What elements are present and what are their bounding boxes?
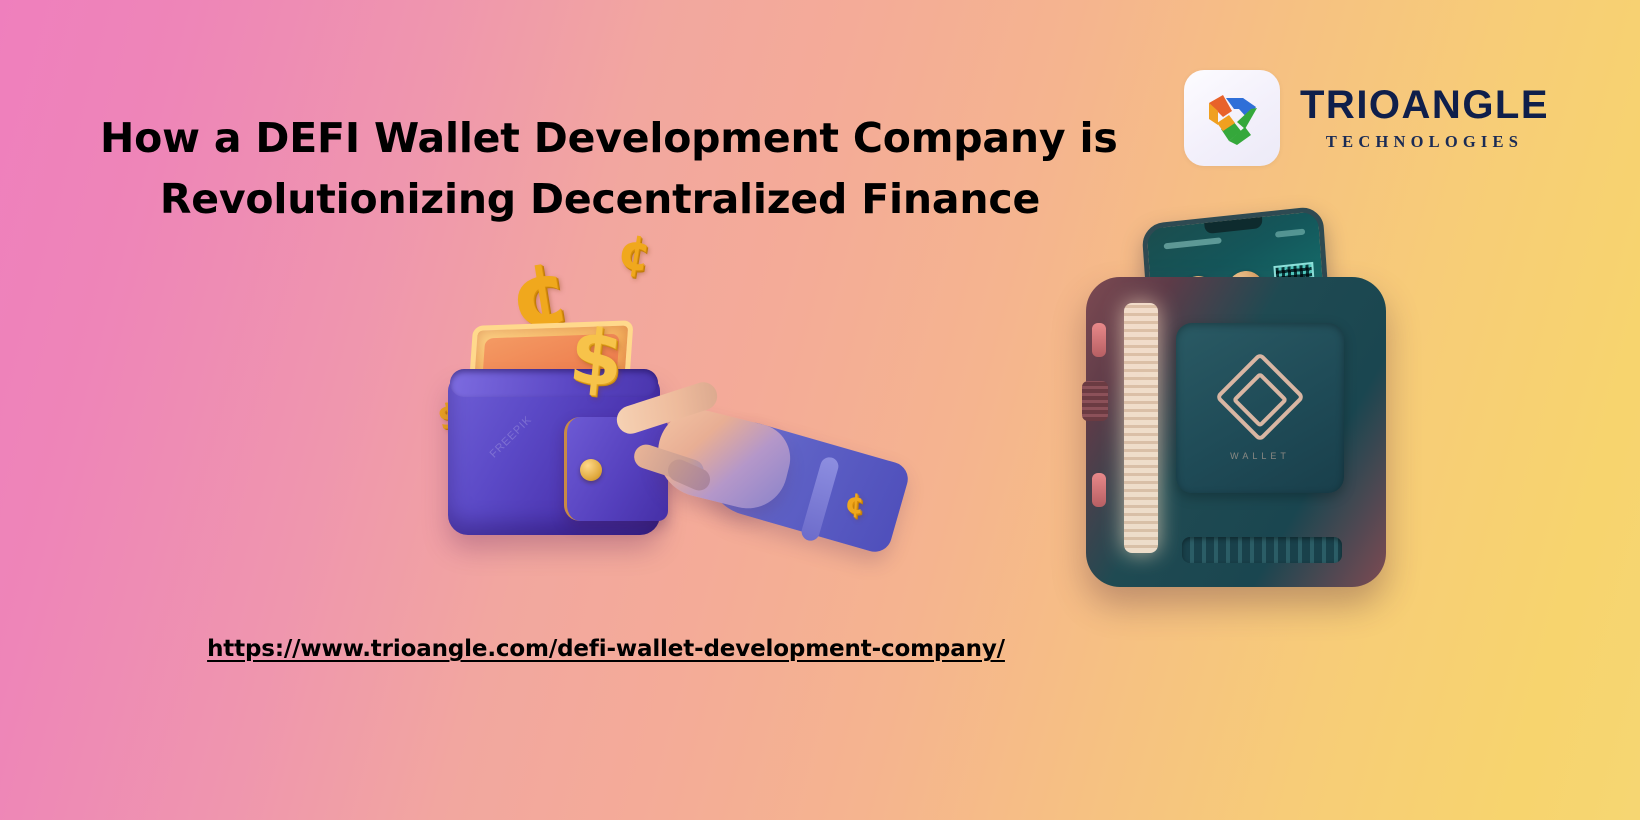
device-led-strip bbox=[1124, 303, 1158, 553]
website-url-link[interactable]: https://www.trioangle.com/defi-wallet-de… bbox=[0, 636, 1212, 662]
device-grill bbox=[1182, 537, 1342, 563]
device-side-button-top bbox=[1092, 323, 1106, 357]
logo-company-name: TRIOANGLE bbox=[1300, 85, 1549, 125]
cent-symbol-small-icon: ¢ bbox=[614, 227, 655, 280]
wallet-illustration: ¢ ¢ $ FREEPIK FREEPIK $ ¢ bbox=[400, 235, 900, 615]
promo-banner: How a DEFI Wallet Development Company is… bbox=[0, 0, 1640, 820]
brand-logo[interactable]: TRIOANGLE TECHNOLOGIES bbox=[1184, 70, 1549, 166]
device-side-button-bottom bbox=[1092, 473, 1106, 507]
phone-notch bbox=[1204, 217, 1262, 234]
device-front-panel: WALLET bbox=[1176, 323, 1344, 493]
device-chassis: WALLET bbox=[1086, 277, 1386, 587]
triangle-knot-icon bbox=[1201, 89, 1263, 147]
wallet-clasp-button bbox=[580, 459, 602, 481]
freepik-watermark: FREEPIK bbox=[488, 414, 535, 461]
phone-status-bar-right bbox=[1275, 229, 1305, 238]
pointing-hand-graphic: ¢ bbox=[615, 360, 895, 590]
device-brand-label: WALLET bbox=[1176, 451, 1344, 461]
trioangle-triangle-icon bbox=[1184, 70, 1280, 166]
logo-wordmark: TRIOANGLE TECHNOLOGIES bbox=[1300, 85, 1549, 151]
device-belt-clip bbox=[1082, 381, 1108, 421]
phone-status-bar-left bbox=[1164, 237, 1222, 249]
logo-tagline: TECHNOLOGIES bbox=[1326, 134, 1523, 151]
hardware-wallet-illustration: $ $ WALLET bbox=[1070, 215, 1400, 605]
diamond-logo-icon bbox=[1215, 352, 1306, 443]
headline-line-1: How a DEFI Wallet Development Company is bbox=[100, 108, 1100, 169]
page-title: How a DEFI Wallet Development Company is… bbox=[100, 108, 1100, 230]
headline-line-2: Revolutionizing Decentralized Finance bbox=[100, 169, 1100, 230]
cent-symbol-fingertip-icon: ¢ bbox=[844, 489, 865, 518]
